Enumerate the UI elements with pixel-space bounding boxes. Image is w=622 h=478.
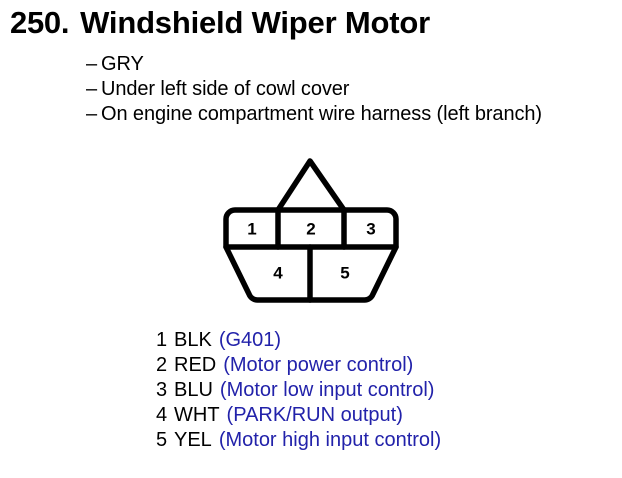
legend-pin-number: 1 (156, 328, 174, 353)
legend-wire-color: BLK (174, 328, 212, 353)
dash-marker: – (86, 102, 101, 127)
legend-wire-color: WHT (174, 403, 220, 428)
wiring-diagram-page: 250. Windshield Wiper Motor – GRY – Unde… (0, 0, 622, 478)
dash-marker: – (86, 77, 101, 102)
legend-wire-color: RED (174, 353, 216, 378)
legend-row: 3 BLU (Motor low input control) (156, 378, 441, 403)
note-label: Under left side of cowl cover (101, 77, 349, 102)
legend-wire-color: YEL (174, 428, 212, 453)
legend-row: 1 BLK (G401) (156, 328, 441, 353)
note-item: – Under left side of cowl cover (86, 77, 616, 102)
note-label: On engine compartment wire harness (left… (101, 102, 542, 127)
legend-row: 2 RED (Motor power control) (156, 353, 441, 378)
dash-marker: – (86, 52, 101, 77)
legend-description: (Motor power control) (223, 353, 413, 378)
connector-pin-4: 4 (273, 263, 283, 282)
legend-description: (Motor high input control) (219, 428, 441, 453)
note-item: – On engine compartment wire harness (le… (86, 102, 616, 127)
connector-pin-1: 1 (247, 219, 256, 238)
legend-row: 5 YEL (Motor high input control) (156, 428, 441, 453)
page-title: 250. Windshield Wiper Motor (10, 7, 430, 38)
legend-description: (PARK/RUN output) (227, 403, 403, 428)
legend-wire-color: BLU (174, 378, 213, 403)
legend-description: (G401) (219, 328, 281, 353)
legend-row: 4 WHT (PARK/RUN output) (156, 403, 441, 428)
note-item: – GRY (86, 52, 616, 77)
legend-pin-number: 2 (156, 353, 174, 378)
connector-pin-2: 2 (306, 219, 315, 238)
note-label: GRY (101, 52, 144, 77)
connector-key-peak (278, 161, 344, 210)
connector-pin-5: 5 (340, 263, 349, 282)
legend-description: (Motor low input control) (220, 378, 435, 403)
connector-diagram: 1 2 3 4 5 (205, 148, 417, 313)
legend-pin-number: 4 (156, 403, 174, 428)
connector-pin-3: 3 (366, 219, 375, 238)
section-title: Windshield Wiper Motor (80, 7, 430, 38)
legend-pin-number: 3 (156, 378, 174, 403)
section-number: 250. (10, 7, 69, 38)
pin-legend: 1 BLK (G401) 2 RED (Motor power control)… (156, 328, 441, 453)
legend-pin-number: 5 (156, 428, 174, 453)
notes-list: – GRY – Under left side of cowl cover – … (86, 52, 616, 127)
